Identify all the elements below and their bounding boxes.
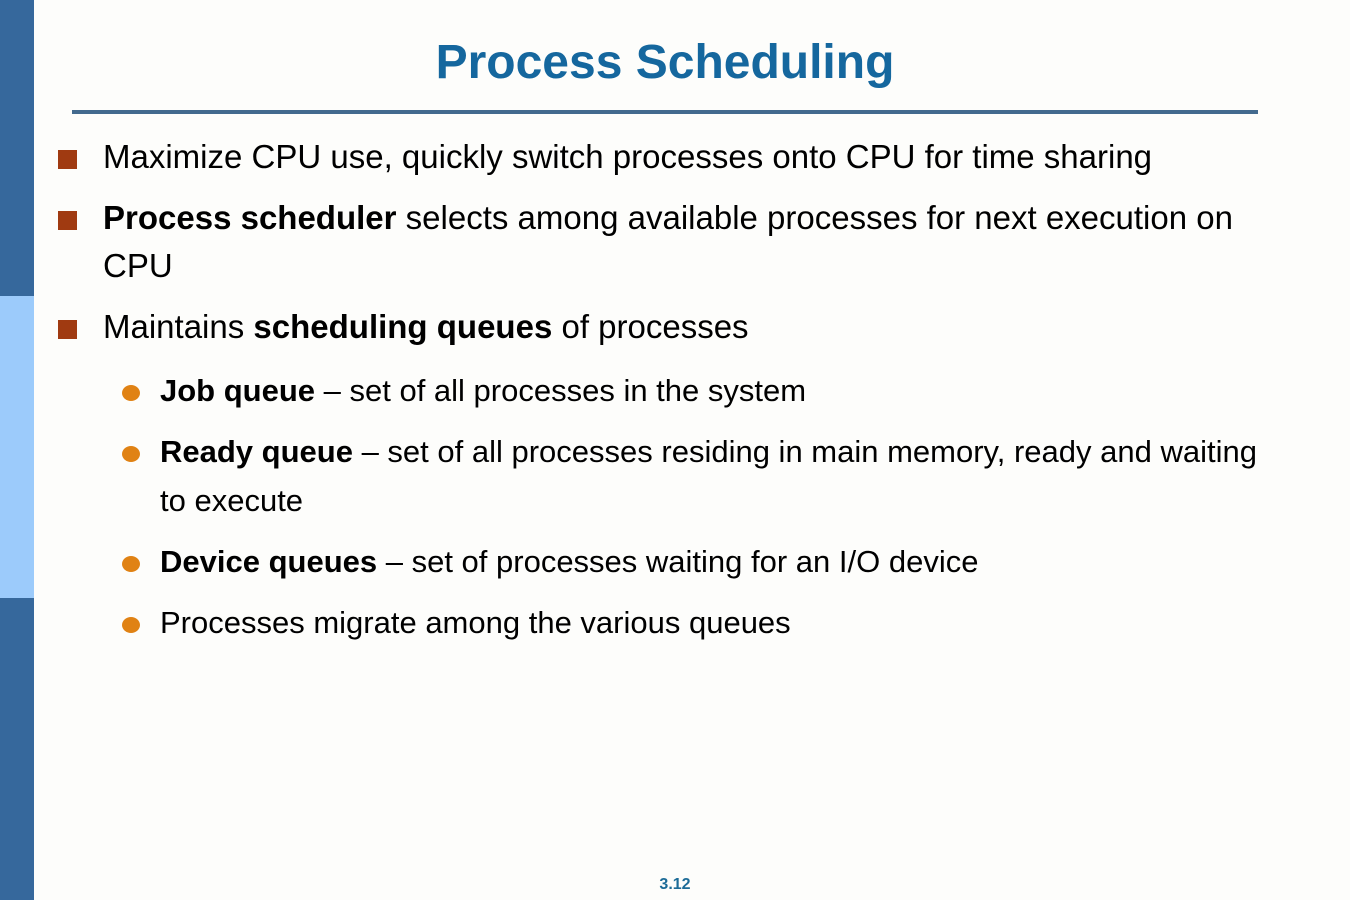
bullet-text-emphasis: scheduling queues	[253, 308, 552, 345]
square-bullet-icon	[58, 320, 77, 339]
slide-canvas: Process Scheduling Maximize CPU use, qui…	[0, 0, 1350, 900]
round-bullet-icon	[122, 556, 140, 572]
bullet-text: Maximize CPU use, quickly switch process…	[103, 138, 1152, 175]
bullet-text-emphasis: Ready queue	[160, 434, 353, 469]
bullet-item: Maximize CPU use, quickly switch process…	[0, 133, 1350, 181]
round-bullet-icon	[122, 446, 140, 462]
bullet-item: Maintains scheduling queues of processes	[0, 303, 1350, 351]
slide-title: Process Scheduling	[72, 38, 1258, 88]
square-bullet-icon	[58, 150, 77, 169]
bullet-item: Process scheduler selects among availabl…	[0, 194, 1350, 290]
round-bullet-icon	[122, 385, 140, 401]
bullet-item: Job queue – set of all processes in the …	[0, 366, 1350, 415]
bullet-text-run: of processes	[552, 308, 748, 345]
bullet-text-run: Processes migrate among the various queu…	[160, 605, 791, 640]
bullet-text: Maintains scheduling queues of processes	[103, 308, 749, 345]
square-bullet-icon	[58, 211, 77, 230]
bullet-text-emphasis: Job queue	[160, 373, 315, 408]
slide-body: Maximize CPU use, quickly switch process…	[0, 133, 1350, 659]
bullet-text: Process scheduler selects among availabl…	[103, 199, 1233, 284]
bullet-text-run: Maximize CPU use, quickly switch process…	[103, 138, 1152, 175]
bullet-text: Device queues – set of processes waiting…	[160, 544, 978, 579]
bullet-item: Ready queue – set of all processes resid…	[0, 427, 1350, 525]
bullet-text: Job queue – set of all processes in the …	[160, 373, 806, 408]
bullet-list: Maximize CPU use, quickly switch process…	[0, 133, 1350, 647]
bullet-text-run: Maintains	[103, 308, 253, 345]
bullet-text-run: – set of processes waiting for an I/O de…	[377, 544, 978, 579]
page-number: 3.12	[0, 876, 1350, 894]
bullet-text: Ready queue – set of all processes resid…	[160, 434, 1257, 518]
bullet-text-emphasis: Process scheduler	[103, 199, 397, 236]
bullet-text: Processes migrate among the various queu…	[160, 605, 791, 640]
title-underline-rule	[72, 110, 1258, 114]
bullet-item: Device queues – set of processes waiting…	[0, 537, 1350, 586]
bullet-item: Processes migrate among the various queu…	[0, 598, 1350, 647]
bullet-text-run: – set of all processes in the system	[315, 373, 806, 408]
round-bullet-icon	[122, 617, 140, 633]
bullet-text-emphasis: Device queues	[160, 544, 377, 579]
